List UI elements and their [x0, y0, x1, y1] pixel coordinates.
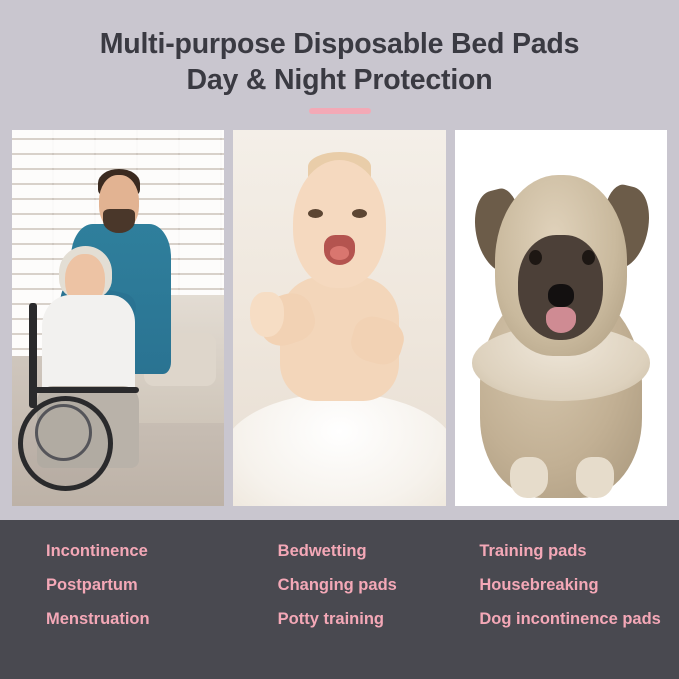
use-case-training-pads: Training pads	[461, 542, 669, 560]
puppy-right-paw	[576, 457, 614, 498]
senior-woman-shirt	[42, 295, 135, 400]
baby-left-eye	[308, 209, 323, 218]
title-line-1: Multi-purpose Disposable Bed Pads	[100, 28, 580, 60]
baby-right-eye	[352, 209, 367, 218]
photo-fluffy-puppy	[455, 130, 667, 506]
use-case-column-2: Bedwetting Changing pads Potty training	[254, 542, 462, 628]
baby-tongue	[330, 246, 349, 259]
puppy-nose	[548, 284, 573, 307]
use-case-column-3: Training pads Housebreaking Dog incontin…	[461, 542, 669, 628]
puppy-right-eye	[582, 250, 595, 265]
use-case-bedwetting: Bedwetting	[254, 542, 462, 560]
white-blanket	[233, 393, 445, 506]
use-case-menstruation: Menstruation	[46, 610, 254, 628]
title-line-2: Day & Night Protection	[0, 62, 679, 98]
use-case-footer: Incontinence Postpartum Menstruation Bed…	[0, 520, 679, 679]
photo-laughing-baby	[233, 130, 445, 506]
puppy-open-mouth	[546, 307, 576, 333]
baby-face	[293, 160, 386, 288]
wheelchair-hubcap	[35, 404, 92, 461]
use-case-potty-training: Potty training	[254, 610, 462, 628]
page-title: Multi-purpose Disposable Bed Pads Day & …	[0, 26, 679, 99]
puppy-left-eye	[529, 250, 542, 265]
use-case-postpartum: Postpartum	[46, 576, 254, 594]
use-case-incontinence: Incontinence	[46, 542, 254, 560]
product-infographic: Multi-purpose Disposable Bed Pads Day & …	[0, 0, 679, 679]
photo-caregiver-and-senior-woman-in-wheelchair	[12, 130, 224, 506]
header: Multi-purpose Disposable Bed Pads Day & …	[0, 0, 679, 114]
wheelchair-seat-bar	[29, 387, 139, 393]
use-case-dog-incontinence-pads: Dog incontinence pads	[461, 610, 669, 628]
puppy-left-paw	[510, 457, 548, 498]
baby-left-hand	[250, 292, 284, 337]
use-case-changing-pads: Changing pads	[254, 576, 462, 594]
use-case-column-1: Incontinence Postpartum Menstruation	[46, 542, 254, 628]
photo-row	[0, 130, 679, 506]
use-case-housebreaking: Housebreaking	[461, 576, 669, 594]
use-case-grid: Incontinence Postpartum Menstruation Bed…	[0, 542, 679, 628]
accent-divider	[309, 108, 371, 114]
